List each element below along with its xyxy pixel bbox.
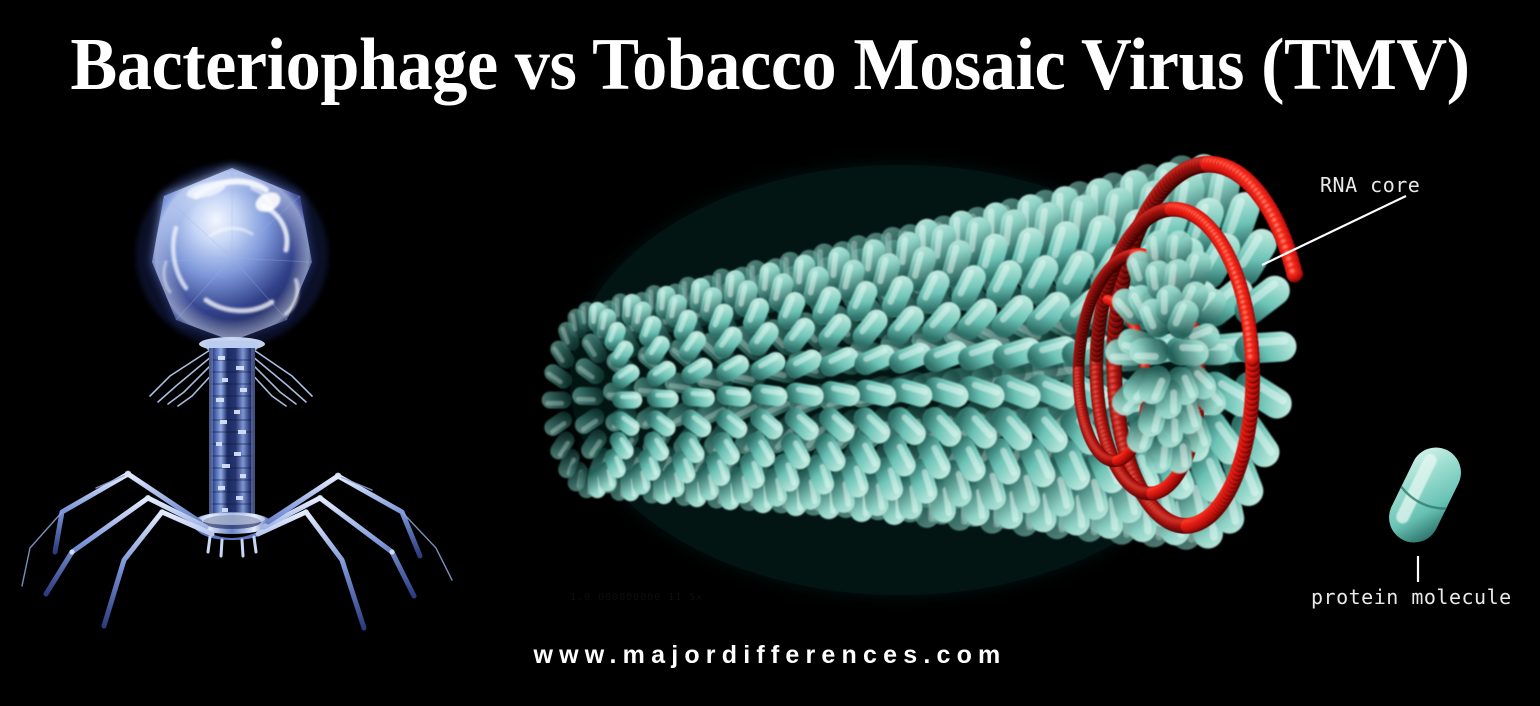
capsid-subunit	[612, 392, 642, 409]
rna-nucleotide-bead	[1245, 352, 1260, 367]
capsid-subunit	[647, 389, 679, 408]
open-face-subunit	[1129, 338, 1170, 365]
capsid-subunit	[572, 387, 604, 406]
capsid-subunit	[681, 387, 716, 408]
background-imprint: 1.0 000000000 11 5x	[570, 592, 780, 606]
tmv-protein-molecule	[1381, 439, 1470, 582]
protein-molecule-label: protein molecule	[1311, 585, 1512, 609]
capsid-subunit	[1234, 331, 1298, 365]
rna-core-label: RNA core	[1320, 173, 1420, 197]
figure-canvas: Bacteriophage vs Tobacco Mosaic Virus (T…	[0, 0, 1540, 706]
site-watermark: www.majordifferences.com	[0, 641, 1540, 670]
rna-nucleotide-bead	[1286, 266, 1303, 283]
open-face-subunit	[1168, 339, 1209, 366]
capsid-subunit	[542, 392, 572, 409]
